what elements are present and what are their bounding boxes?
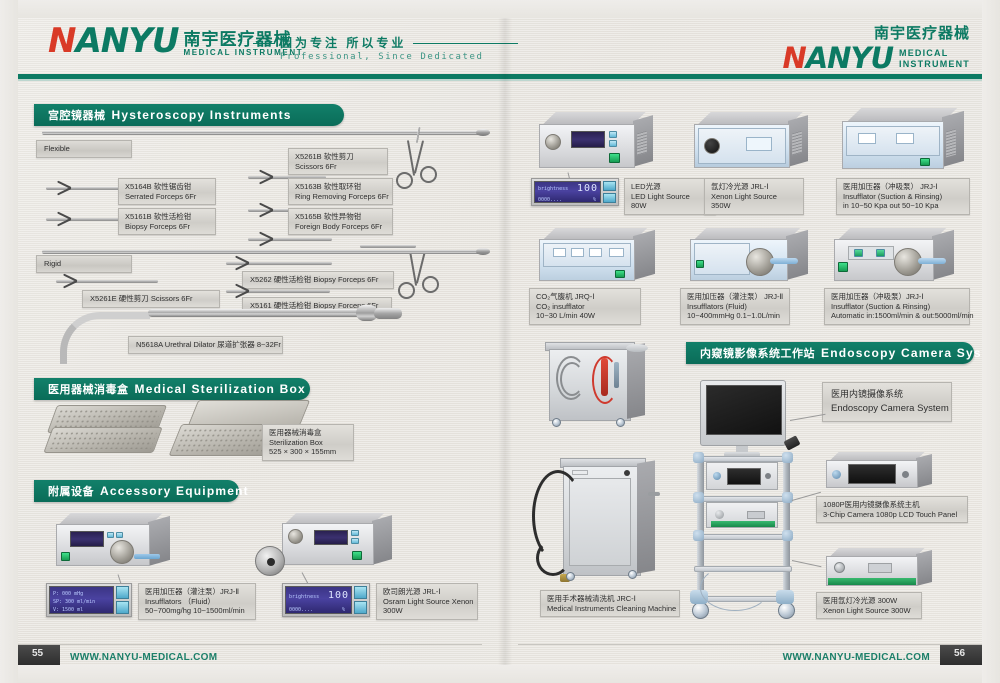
footer-url-right: WWW.NANYU-MEDICAL.COM	[783, 652, 930, 663]
section-banner-sterilization: 医用器械消毒盒 Medical Sterilization Box	[34, 378, 310, 400]
slogan: 因为专注 所以专业 Professional, Since Dedicated	[280, 34, 484, 62]
caption-insufflator-auto: 医用加压器（冲吸泵）JRJ-Ⅰ Insufflator (Suction & R…	[824, 288, 970, 325]
banner-cn-accessory: 附属设备	[48, 483, 94, 499]
leader-line-4	[790, 414, 826, 421]
banner-en-sterilization: Medical Sterilization Box	[135, 382, 306, 396]
page-header: NANYU 南宇医疗器械 MEDICAL INSTRUMENT 因为专注 所以专…	[18, 18, 982, 76]
page-spine	[498, 18, 512, 665]
device-insufflator-suction	[836, 108, 964, 176]
caption-led-light-source: LED光源 LED Light Source 80W	[624, 178, 716, 215]
lcd-callout-led: brightness 100 0000.... %	[531, 178, 619, 206]
lcd-button-down-2[interactable]	[354, 601, 367, 614]
lcd-button-down-3[interactable]	[603, 193, 616, 203]
sterilization-box-closed	[46, 405, 166, 460]
rigid-scope-tip	[476, 248, 490, 255]
caption-insufflator-suction: 医用加压器（冲吸泵） JRJ-Ⅰ Insufflator (Suction & …	[836, 178, 970, 215]
footer-url-left: WWW.NANYU-MEDICAL.COM	[70, 652, 217, 663]
logo-right: 南宇医疗器械 NANYU MEDICAL INSTRUMENT	[782, 22, 970, 73]
banner-cn-sterilization: 医用器械消毒盒	[48, 381, 129, 397]
banner-cn-hysteroscopy: 宫腔镜器械	[48, 107, 106, 123]
banner-en-hysteroscopy: Hysteroscopy Instruments	[112, 108, 292, 122]
caption-cleaning-machine: 医用手术器械清洗机 JRC-Ⅰ Medical Instruments Clea…	[540, 590, 680, 617]
header-divider-bar-light	[18, 79, 982, 81]
logo-right-wordmark: NANYU	[782, 44, 893, 73]
catalog-page: NANYU 南宇医疗器械 MEDICAL INSTRUMENT 因为专注 所以专…	[0, 0, 1000, 683]
device-insufflator-fluid	[50, 513, 175, 573]
lcd-screen-light-source: brightness 100 0000.... %	[285, 586, 352, 614]
caption-insufflator-fluid: 医用加压器（灌注泵）JRJ-Ⅱ Insufflators （Fluid） 50~…	[138, 583, 256, 620]
trolley-camera-host	[706, 462, 778, 490]
banner-en-camera: Endoscopy Camera System	[821, 346, 1000, 360]
device-insufflator-auto	[828, 228, 968, 286]
device-xenon-350	[688, 112, 808, 174]
page-margin-left	[0, 0, 18, 683]
lcd-callout-light-source: brightness 100 0000.... %	[282, 583, 370, 617]
lcd-button-up-1[interactable]	[116, 586, 129, 599]
section-banner-accessory: 附属设备 Accessory Equipment	[34, 480, 239, 502]
caption-n5618a: N5618A Urethral Dilator 尿道扩张器 8~32Fr	[128, 336, 283, 354]
device-1080p-host	[822, 452, 937, 492]
logo-wordmark: NANYU	[48, 24, 178, 58]
header-rule-right	[413, 43, 518, 44]
device-led-light-source	[533, 112, 653, 174]
light-cable-connector	[255, 546, 285, 576]
header-rule-left	[253, 43, 275, 44]
camera-head	[783, 435, 800, 450]
caption-x5261e: X5261E 硬性剪刀 Scissors 6Fr	[82, 290, 220, 308]
footer-rule-left	[18, 644, 482, 645]
device-co2-insufflator	[533, 228, 655, 286]
caption-insufflator-fluid-2: 医用加压器（灌注泵） JRJ-Ⅱ Insufflators (Fluid) 10…	[680, 288, 790, 325]
logo-right-chinese: 南宇医疗器械	[782, 22, 970, 43]
label-rigid: Rigid	[36, 255, 132, 273]
footer-rule-right	[518, 644, 982, 645]
flexible-scope-tip	[476, 129, 490, 136]
device-xenon-300	[822, 548, 937, 590]
caption-x5165b: X5165B 软性异物钳 Foreign Body Forceps 6Fr	[288, 208, 393, 235]
lcd-button-down-1[interactable]	[116, 601, 129, 614]
logo-wordmark-rest: ANYU	[75, 21, 178, 61]
caption-sterilization-box: 医用器械消毒盒 Sterilization Box 525 × 300 × 15…	[262, 424, 354, 461]
label-flexible: Flexible	[36, 140, 132, 158]
footer-page-badge-left: 55	[18, 645, 60, 665]
section-banner-camera-system: 内窥镜影像系统工作站 Endoscopy Camera System	[686, 342, 974, 364]
logo-right-subtitle: MEDICAL INSTRUMENT	[899, 48, 970, 74]
lcd-button-up-3[interactable]	[603, 181, 616, 191]
caption-1080p-host: 1080P医用内镜摄像系统主机 3-Chip Camera 1080p LCD …	[816, 496, 968, 523]
caption-co2-insufflator: CO₂气腹机 JRQ-Ⅰ CO₂ insufflator 10~30 L/min…	[529, 288, 641, 325]
lcd-callout-insufflator: P: 000 mHg SP: 300 ml/min V: 1500 ml	[46, 583, 132, 617]
caption-camera-system: 医用内镜摄像系统 Endoscopy Camera System	[822, 382, 952, 422]
rigid-scope-shaft	[42, 250, 482, 254]
instrument-shaft-foreign	[248, 238, 332, 241]
banner-en-accessory: Accessory Equipment	[100, 484, 249, 498]
caption-x5261b: X5261B 软性剪刀 Scissors 6Fr	[288, 148, 388, 175]
device-insufflator-fluid-2	[684, 228, 816, 286]
caption-x5161b: X5161B 软性活检钳 Biopsy Forceps 6Fr	[118, 208, 216, 235]
caption-x5262: X5262 硬性活检钳 Biopsy Forceps 6Fr	[242, 271, 394, 289]
caption-xenon-300: 医用氙灯冷光源 300W Xenon Light Source 300W	[816, 592, 922, 619]
lcd-screen-insufflator: P: 000 mHg SP: 300 ml/min V: 1500 ml	[49, 586, 114, 614]
lcd-button-up-2[interactable]	[354, 586, 367, 599]
caption-x5163b: X5163B 软性取环钳 Ring Removing Forceps 6Fr	[288, 178, 393, 205]
footer-page-badge-right: 56	[940, 645, 982, 665]
page-number-right: 56	[954, 648, 965, 659]
trolley-monitor	[700, 380, 786, 446]
lcd-screen-led: brightness 100 0000.... %	[534, 181, 601, 203]
device-osram-light-source	[276, 513, 396, 571]
section-banner-hysteroscopy: 宫腔镜器械 Hysteroscopy Instruments	[34, 104, 344, 126]
logo-left: NANYU 南宇医疗器械 MEDICAL INSTRUMENT	[48, 24, 303, 58]
page-margin-bottom	[0, 665, 1000, 683]
page-margin-top	[0, 0, 1000, 18]
trolley-light-source	[706, 502, 778, 528]
leader-line-6	[792, 560, 822, 567]
banner-cn-camera: 内窥镜影像系统工作站	[700, 345, 815, 361]
page-margin-right	[982, 0, 1000, 683]
slogan-english: Professional, Since Dedicated	[280, 52, 484, 62]
page-number-left: 55	[32, 648, 43, 659]
caption-osram-light-source: 欧司朗光源 JRL-Ⅰ Osram Light Source Xenon 300…	[376, 583, 478, 620]
caption-x5164b: X5164B 软性锯齿钳 Serrated Forceps 6Fr	[118, 178, 216, 205]
caption-xenon-350: 氙灯冷光源 JRL-Ⅰ Xenon Light Source 350W	[704, 178, 804, 215]
